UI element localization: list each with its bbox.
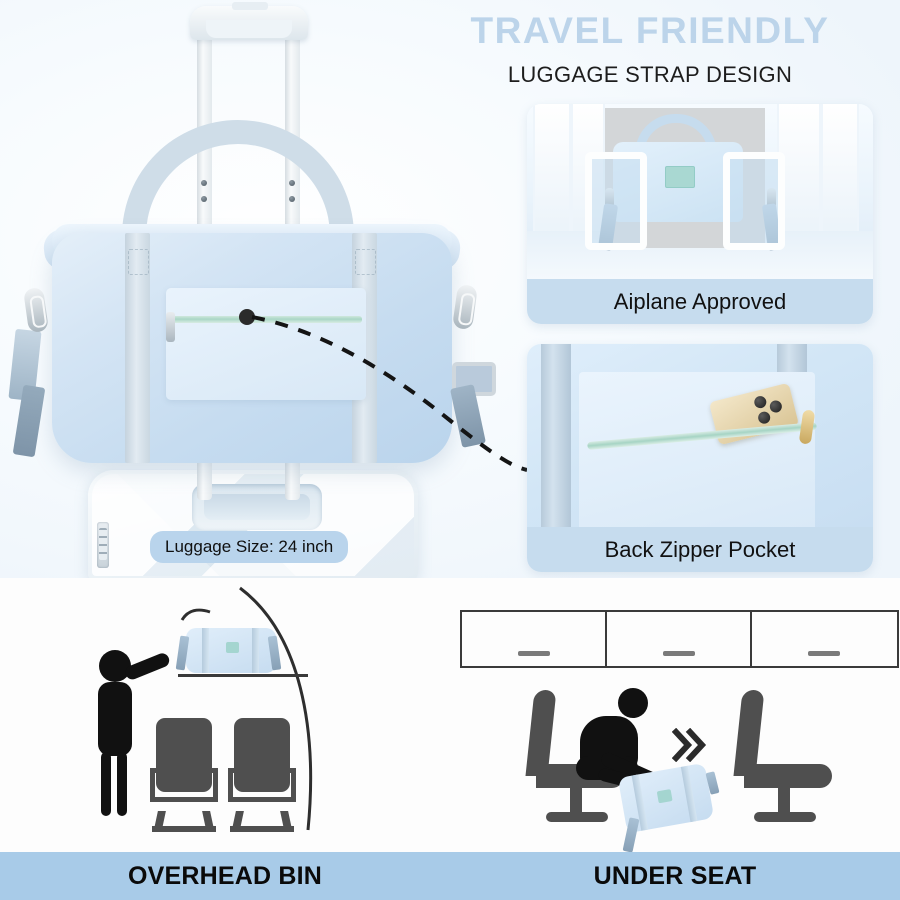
front-pocket-zipper-pull: [166, 312, 175, 342]
seat-frame-2d: [228, 797, 296, 802]
front-pocket-zipper: [172, 316, 362, 323]
size-bracket-right: [723, 152, 785, 250]
strap-clip-right-icon: [452, 284, 478, 330]
page-title: TRAVEL FRIENDLY: [420, 12, 880, 51]
seat-frame-1d: [150, 797, 218, 802]
front-seat-base: [546, 812, 608, 822]
callout-anchor-dot: [239, 309, 255, 325]
hero-section: TRAVEL FRIENDLY LUGGAGE STRAP DESIGN: [0, 0, 900, 578]
rear-seat-base: [754, 812, 816, 822]
overhead-shelf: [178, 674, 308, 677]
seat-back-2: [234, 718, 290, 792]
airplane-approved-photo: [527, 104, 873, 279]
feature-card-back-zipper-pocket[interactable]: Back Zipper Pocket: [527, 344, 873, 572]
tsa-lock-icon: [97, 522, 109, 568]
telescoping-handle-grip: [190, 6, 308, 40]
seated-figure-head: [618, 688, 648, 718]
strap-clip-left-icon: [23, 287, 49, 333]
luggage-size-badge: Luggage Size: 24 inch: [150, 531, 348, 563]
page-subtitle: LUGGAGE STRAP DESIGN: [420, 62, 880, 88]
bin-handle-2: [663, 651, 695, 656]
back-zipper-pocket-photo: [527, 344, 873, 527]
feature-card-airplane-approved[interactable]: Aiplane Approved: [527, 104, 873, 324]
double-chevron-right-icon: [672, 728, 708, 762]
overhead-bin-2: [605, 610, 754, 668]
under-seat-scene: [450, 578, 900, 852]
seat-back-1: [156, 718, 212, 792]
brand-logo-patch: [665, 166, 695, 188]
overhead-bin-scene: [0, 578, 450, 852]
standing-figure-torso: [98, 682, 132, 756]
bag-on-shelf: [186, 628, 276, 673]
usage-scenes-section: [0, 578, 900, 852]
feature-card-caption: Back Zipper Pocket: [527, 527, 873, 572]
product-infographic: TRAVEL FRIENDLY LUGGAGE STRAP DESIGN: [0, 0, 900, 900]
standing-figure-leg-left: [101, 752, 111, 816]
overhead-bin-3: [750, 610, 899, 668]
banner-label-under-seat: UNDER SEAT: [450, 852, 900, 900]
banner-label-overhead-bin: OVERHEAD BIN: [0, 852, 450, 900]
rear-seat-cushion: [744, 764, 832, 788]
seat-frame-2: [228, 768, 296, 773]
bin-handle-3: [808, 651, 840, 656]
bag-front-pocket: [166, 288, 366, 400]
bag-webbing-left: [125, 233, 150, 463]
bin-handle-1: [518, 651, 550, 656]
standing-figure-leg-right: [117, 752, 127, 816]
seat-base-1: [152, 826, 216, 832]
seat-base-2: [230, 826, 294, 832]
size-bracket-left: [585, 152, 647, 250]
standing-figure-head: [99, 650, 131, 682]
feature-card-caption: Aiplane Approved: [527, 279, 873, 324]
bottom-banner: OVERHEAD BIN UNDER SEAT: [0, 852, 900, 900]
telescoping-handle-button: [232, 2, 268, 10]
cabin-outline: [0, 578, 450, 852]
overhead-bin-1: [460, 610, 609, 668]
seat-frame-1: [150, 768, 218, 773]
